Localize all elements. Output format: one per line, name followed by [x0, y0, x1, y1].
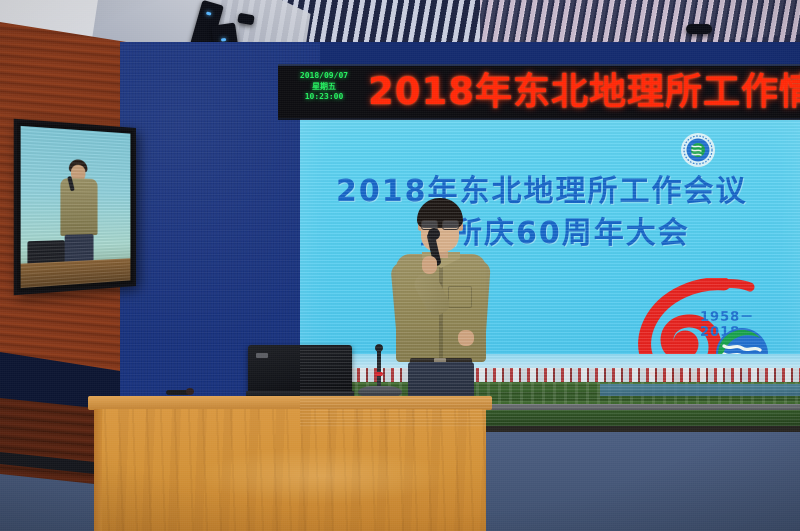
laptop-brand-logo — [256, 353, 268, 358]
monitor-scanlines — [21, 126, 131, 288]
campus-water — [600, 384, 800, 396]
podium-desk — [88, 396, 492, 531]
monitor-screen — [21, 126, 131, 288]
side-monitor-camera-feed — [14, 119, 136, 296]
speaker-hand-holding-mic — [422, 256, 437, 274]
desk-front-panel — [94, 409, 486, 531]
desk-small-object — [186, 388, 194, 395]
speaker-other-hand — [458, 330, 474, 346]
speaker-hair-fringe — [418, 204, 462, 218]
handheld-microphone-head — [428, 228, 440, 240]
desk-left-edge — [94, 409, 102, 531]
ceiling-light-fixture-right — [686, 24, 712, 34]
projector-status-led — [206, 11, 212, 15]
speaker-person — [386, 198, 496, 398]
led-banner: 2018/09/07 星期五 10:23:00 2018年东北地理所工作情况通报 — [278, 64, 800, 120]
led-time: 10:23:00 — [288, 92, 360, 103]
desk-top-surface — [88, 396, 492, 410]
microphone-gooseneck-stem — [377, 346, 381, 388]
gooseneck-conference-microphone — [358, 344, 402, 398]
laptop-lid — [248, 345, 352, 393]
led-clock: 2018/09/07 星期五 10:23:00 — [288, 71, 360, 103]
speaker-shirt-pocket — [448, 286, 472, 308]
led-weekday: 星期五 — [288, 82, 360, 93]
cas-institute-roundel-logo — [680, 132, 716, 168]
thinkpad-laptop — [248, 345, 352, 397]
microphone-capsule — [375, 344, 383, 352]
speaker-shirt-button — [439, 322, 442, 325]
led-date: 2018/09/07 — [288, 71, 360, 82]
conference-room-photo: 2018年东北地理所工作会议 暨所庆60周年大会 1958－2018 — [0, 0, 800, 531]
led-banner-title: 2018年东北地理所工作情况通报 — [368, 68, 800, 116]
eyeglasses-icon — [421, 220, 459, 228]
microphone-indicator-ring — [375, 372, 383, 376]
